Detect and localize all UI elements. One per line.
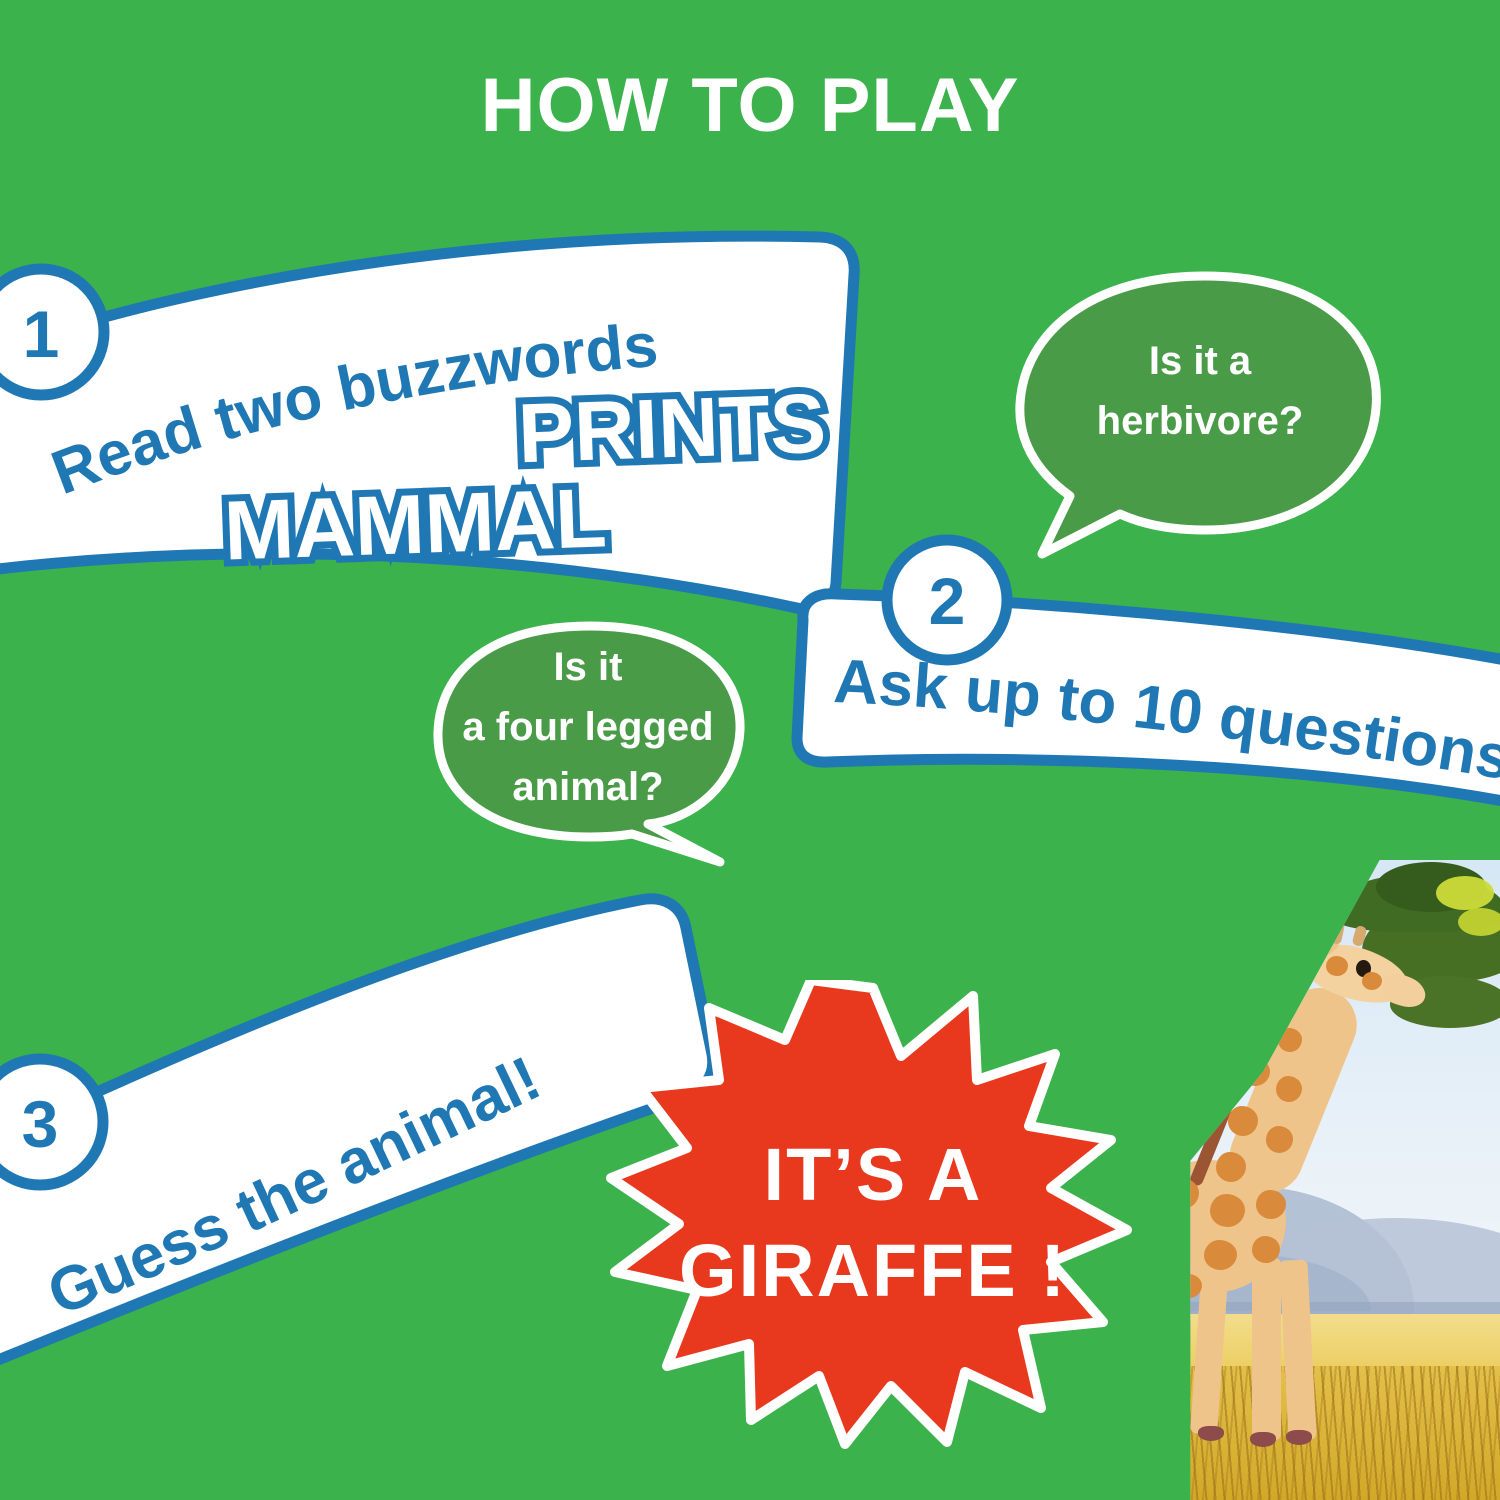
step-2-number: 2: [929, 564, 966, 638]
bubble-line-2: a four legged: [462, 705, 713, 749]
page-title: HOW TO PLAY: [0, 62, 1500, 149]
giraffe-spot: [1176, 1274, 1202, 1298]
giraffe-spot: [1362, 972, 1382, 990]
giraffe-hoof-1: [1156, 1426, 1182, 1441]
giraffe-spot: [1276, 1076, 1302, 1102]
answer-starburst: IT’S A GIRAFFE !: [605, 980, 1135, 1450]
speech-bubble-herbivore: Is it a herbivore?: [1000, 268, 1400, 568]
giraffe-spot: [1210, 1194, 1245, 1227]
giraffe-spot: [1228, 1106, 1258, 1136]
giraffe-spot: [1256, 1190, 1286, 1219]
bubble-line-1: Is it a: [1149, 339, 1252, 383]
giraffe-spot: [1204, 1240, 1237, 1270]
burst-line-1: IT’S A: [764, 1133, 983, 1216]
step-1-number: 1: [23, 297, 60, 371]
giraffe-spot: [1278, 1028, 1302, 1052]
giraffe-leg-rear-far: [1158, 1260, 1186, 1435]
giraffe-spot: [1166, 1178, 1199, 1209]
giraffe-hoof-3: [1250, 1432, 1276, 1447]
burst-line-2: GIRAFFE !: [679, 1229, 1067, 1312]
giraffe-spot: [1216, 1152, 1246, 1182]
speech-bubble-four-legged: Is it a four legged animal?: [420, 618, 760, 868]
how-to-play-poster: HOW TO PLAY 1 Read two buzzwords PRINTS …: [0, 0, 1500, 1500]
buzzword-mammal: MAMMAL: [222, 469, 608, 579]
buzzword-prints: PRINTS: [516, 375, 827, 483]
giraffe-hoof-4: [1286, 1430, 1312, 1445]
bubble-line-2: herbivore?: [1097, 399, 1304, 443]
bubble-line-1: Is it: [554, 645, 623, 689]
tree-highlight-b: [1458, 908, 1500, 936]
giraffe-spot: [1158, 1226, 1188, 1254]
tree-highlight-a: [1436, 876, 1494, 910]
giraffe-spot: [1252, 1236, 1280, 1263]
giraffe-spot: [1266, 1126, 1293, 1153]
giraffe-hoof-2: [1198, 1426, 1224, 1441]
giraffe-spot: [1246, 1012, 1272, 1037]
giraffe-spot: [1326, 956, 1348, 976]
step-3-number: 3: [22, 1087, 59, 1161]
step-2-banner: 2 Ask up to 10 questions: [775, 552, 1500, 842]
giraffe-spot: [1240, 1058, 1270, 1086]
bubble-line-3: animal?: [512, 765, 663, 809]
giraffe-leg-front-far: [1252, 1258, 1281, 1440]
